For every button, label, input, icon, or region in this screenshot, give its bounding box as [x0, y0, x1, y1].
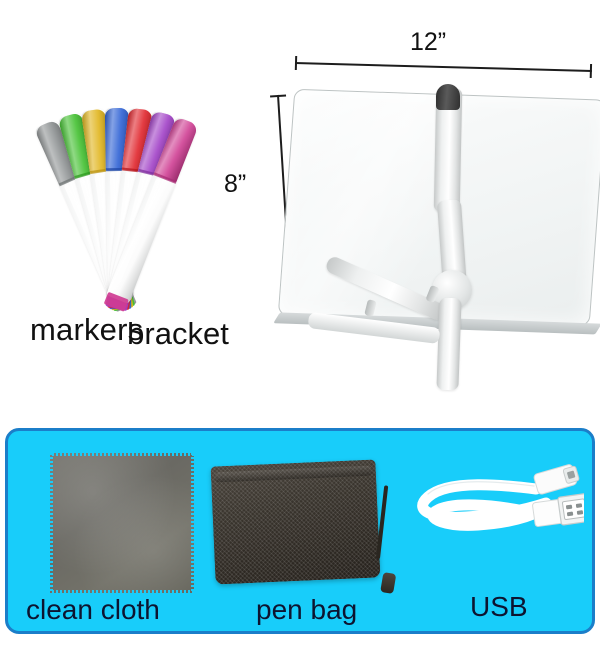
- product-components-figure: markers 12” 8” bracket clean cloth: [0, 0, 600, 648]
- marker-foot: [104, 292, 129, 312]
- clean-cloth-label: clean cloth: [26, 594, 160, 626]
- accessory-panel: clean cloth pen bag: [5, 428, 595, 634]
- cloth-pinked-edge: [48, 451, 53, 595]
- usb-label: USB: [470, 591, 528, 623]
- microfiber-cloth-icon: [50, 453, 194, 593]
- bracket-stand-icon: [400, 84, 530, 384]
- bracket-lower-leg: [436, 298, 461, 391]
- pouch-toggle: [380, 572, 396, 594]
- cloth-pinked-edge: [191, 451, 196, 595]
- bracket-label: bracket: [48, 316, 308, 352]
- height-dimension-label: 8”: [224, 170, 246, 199]
- pen-bag-label: pen bag: [256, 594, 357, 626]
- width-dimension-line: [295, 62, 592, 72]
- usb-cable-icon: [408, 453, 584, 581]
- pouch-drawstring: [376, 485, 388, 559]
- usb-cable-svg: [408, 453, 584, 581]
- markers-illustration: [28, 100, 218, 315]
- bracket-tip: [436, 84, 460, 110]
- width-dimension-label: 12”: [410, 28, 446, 57]
- mesh-pouch-icon: [211, 459, 381, 584]
